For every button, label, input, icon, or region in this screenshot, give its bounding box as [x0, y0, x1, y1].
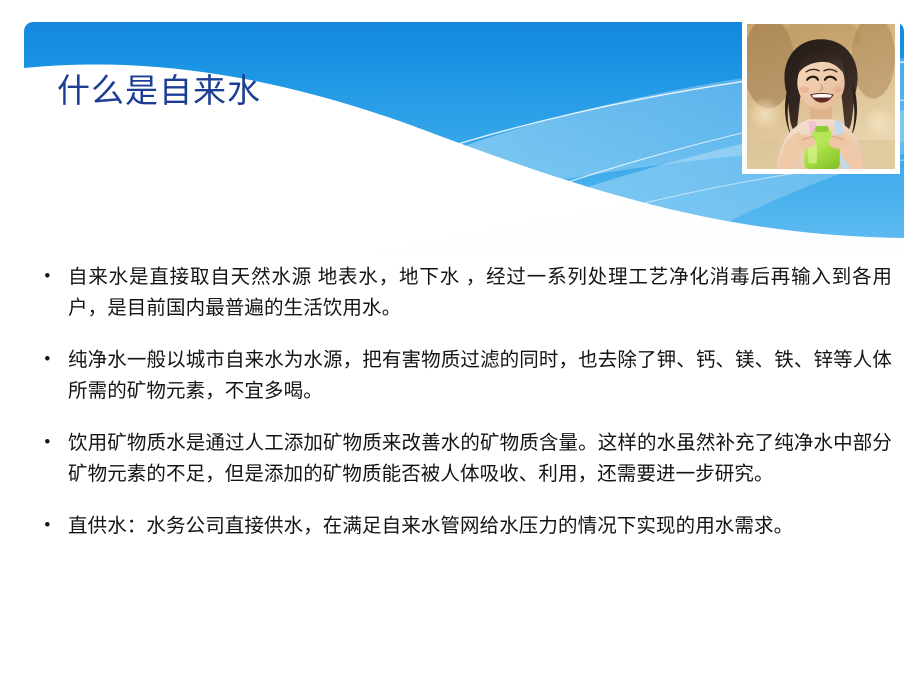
list-item-text: 自来水是直接取自天然水源 地表水，地下水 ，经过一系列处理工艺净化消毒后再输入到… [68, 262, 892, 324]
slide-body-content: • 自来水是直接取自天然水源 地表水，地下水 ，经过一系列处理工艺净化消毒后再输… [36, 262, 892, 563]
bullet-marker-icon: • [36, 511, 68, 541]
bullet-marker-icon: • [36, 262, 68, 292]
photo-girl-with-water-bottle [747, 24, 895, 169]
presentation-slide: 什么是自来水 [0, 0, 920, 690]
list-item-text: 直供水：水务公司直接供水，在满足自来水管网给水压力的情况下实现的用水需求。 [68, 511, 892, 542]
list-item: • 饮用矿物质水是通过人工添加矿物质来改善水的矿物质含量。这样的水虽然补充了纯净… [36, 428, 892, 490]
list-item: • 纯净水一般以城市自来水为水源，把有害物质过滤的同时，也去除了钾、钙、镁、铁、… [36, 345, 892, 407]
list-item-text: 纯净水一般以城市自来水为水源，把有害物质过滤的同时，也去除了钾、钙、镁、铁、锌等… [68, 345, 892, 407]
header-photo-frame [742, 19, 900, 174]
bullet-marker-icon: • [36, 345, 68, 375]
list-item-text: 饮用矿物质水是通过人工添加矿物质来改善水的矿物质含量。这样的水虽然补充了纯净水中… [68, 428, 892, 490]
photo-illustration [747, 24, 895, 169]
page-title: 什么是自来水 [57, 69, 261, 113]
bullet-marker-icon: • [36, 428, 68, 458]
list-item: • 自来水是直接取自天然水源 地表水，地下水 ，经过一系列处理工艺净化消毒后再输… [36, 262, 892, 324]
list-item: • 直供水：水务公司直接供水，在满足自来水管网给水压力的情况下实现的用水需求。 [36, 511, 892, 542]
